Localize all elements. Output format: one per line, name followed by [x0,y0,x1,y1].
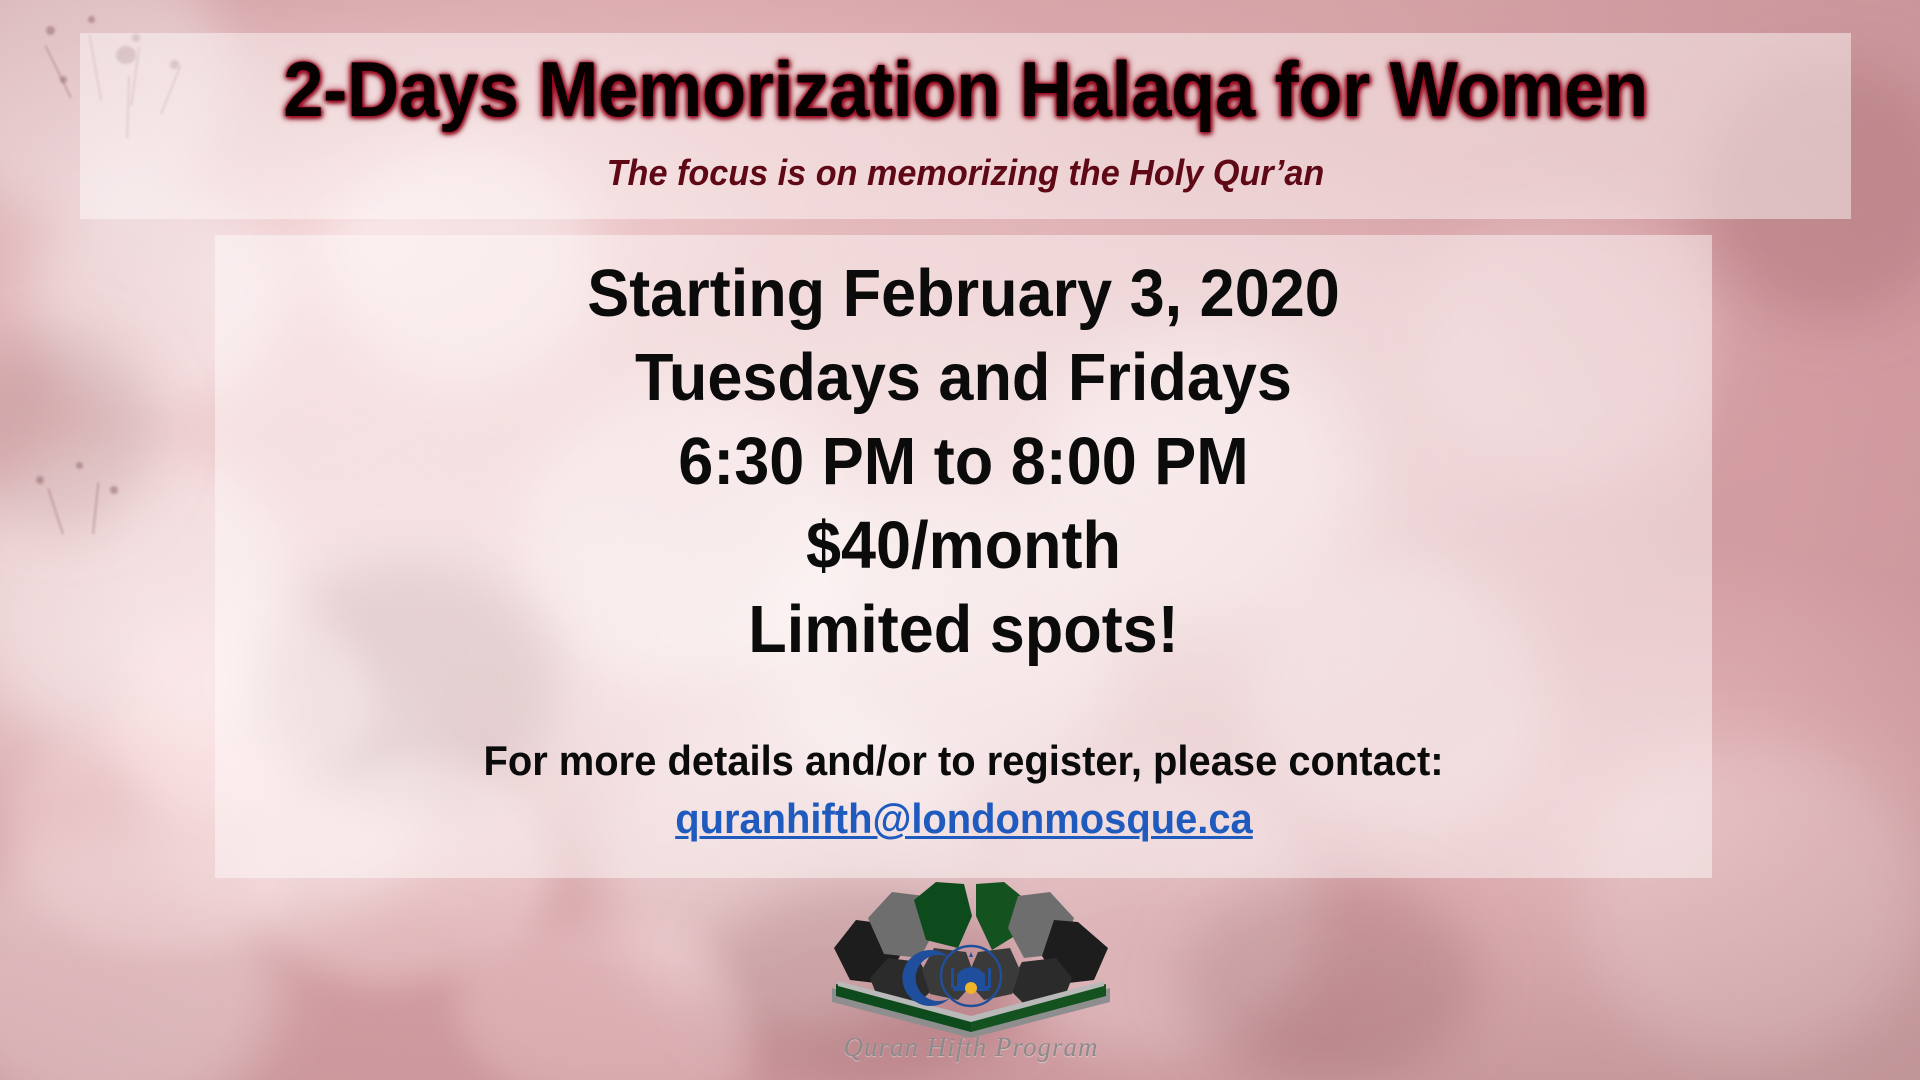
contact-email-link[interactable]: quranhifth@londonmosque.ca [675,793,1253,845]
detail-line-availability: Limited spots! [260,588,1667,672]
logo-icon [826,880,1116,1040]
logo-caption: Quran Hifth Program [826,1032,1116,1063]
contact-prompt: For more details and/or to register, ple… [252,735,1674,787]
quran-hifth-program-logo: Quran Hifth Program [826,880,1116,1075]
detail-line-price: $40/month [260,504,1667,588]
detail-line-days: Tuesdays and Fridays [260,336,1667,420]
detail-line-start-date: Starting February 3, 2020 [260,252,1667,336]
contact-block: For more details and/or to register, ple… [215,735,1712,845]
details-list: Starting February 3, 2020 Tuesdays and F… [215,252,1712,672]
poster-canvas: 2-Days Memorization Halaqa for Women The… [0,0,1920,1080]
detail-line-time: 6:30 PM to 8:00 PM [260,420,1667,504]
page-subtitle: The focus is on memorizing the Holy Qur’… [124,152,1806,194]
page-title: 2-Days Memorization Halaqa for Women [142,44,1789,135]
